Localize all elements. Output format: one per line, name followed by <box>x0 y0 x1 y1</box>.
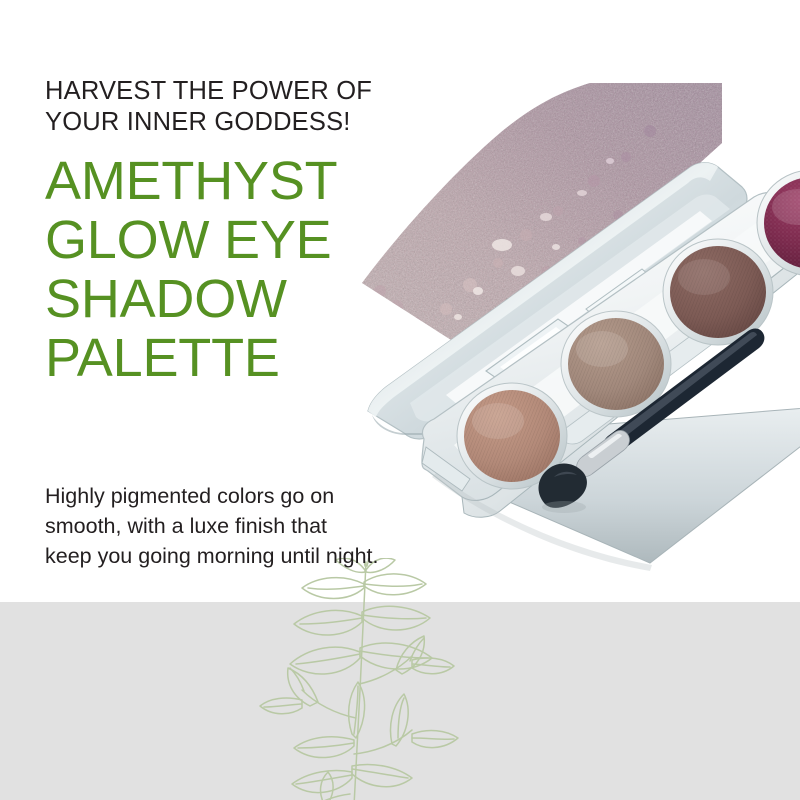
poster-canvas: HARVEST THE POWER OF YOUR INNER GODDESS!… <box>0 0 800 800</box>
product-image <box>350 95 800 575</box>
bottom-color-band <box>0 602 800 800</box>
pan-taupe <box>561 311 671 417</box>
